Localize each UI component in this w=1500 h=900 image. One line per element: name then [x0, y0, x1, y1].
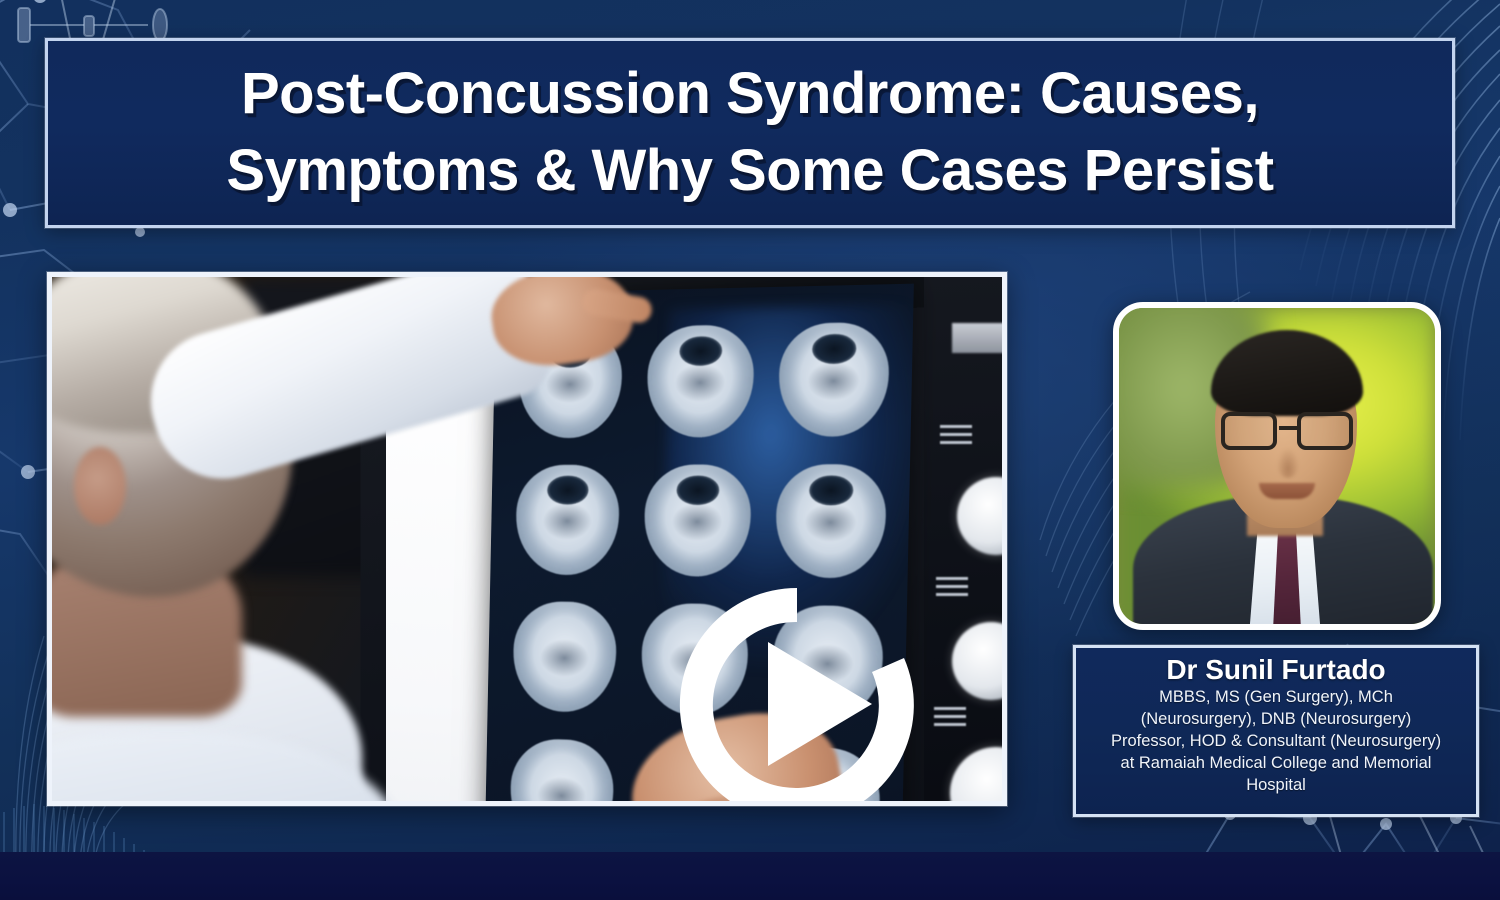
ct-slice [512, 601, 617, 713]
eyeglass-bridge [1279, 426, 1297, 430]
ct-slice [775, 464, 887, 579]
ct-slice [778, 322, 890, 437]
video-thumbnail-frame[interactable] [47, 272, 1007, 806]
doctor-credential-line: Professor, HOD & Consultant (Neurosurger… [1086, 731, 1466, 753]
doctor-credential-line: Hospital [1086, 775, 1466, 797]
doctor-name: Dr Sunil Furtado [1086, 654, 1466, 686]
ct-slice [515, 465, 620, 576]
video-thumbnail-card: Post-Concussion Syndrome: Causes, Sympto… [0, 0, 1500, 900]
ct-slice [646, 324, 754, 437]
doctor-credentials-card: Dr Sunil Furtado MBBS, MS (Gen Surgery),… [1073, 645, 1479, 817]
page-title: Post-Concussion Syndrome: Causes, Sympto… [208, 56, 1291, 209]
title-banner: Post-Concussion Syndrome: Causes, Sympto… [45, 38, 1455, 228]
bottom-bar [0, 852, 1500, 900]
doctor-credential-line: MBBS, MS (Gen Surgery), MCh [1086, 687, 1466, 709]
eyeglass-lens-right [1297, 412, 1353, 450]
play-triangle-icon [768, 642, 872, 766]
play-button[interactable] [672, 580, 922, 806]
ct-slice [643, 465, 751, 578]
doctor-credential-line: at Ramaiah Medical College and Memorial [1086, 753, 1466, 775]
doctor-credential-line: (Neurosurgery), DNB (Neurosurgery) [1086, 709, 1466, 731]
portrait-smile [1259, 483, 1315, 499]
portrait-nose [1277, 448, 1299, 478]
portrait-eyeglasses [1219, 412, 1355, 452]
doctor-ear [74, 447, 126, 525]
eyeglass-lens-left [1221, 412, 1277, 450]
gauge-tick-marks [936, 577, 968, 597]
gauge-tick-marks [940, 425, 972, 445]
ct-slice [510, 737, 614, 801]
monitor-label-strip [952, 323, 1002, 353]
gauge-tick-marks [934, 707, 966, 727]
doctor-portrait [1113, 302, 1441, 630]
